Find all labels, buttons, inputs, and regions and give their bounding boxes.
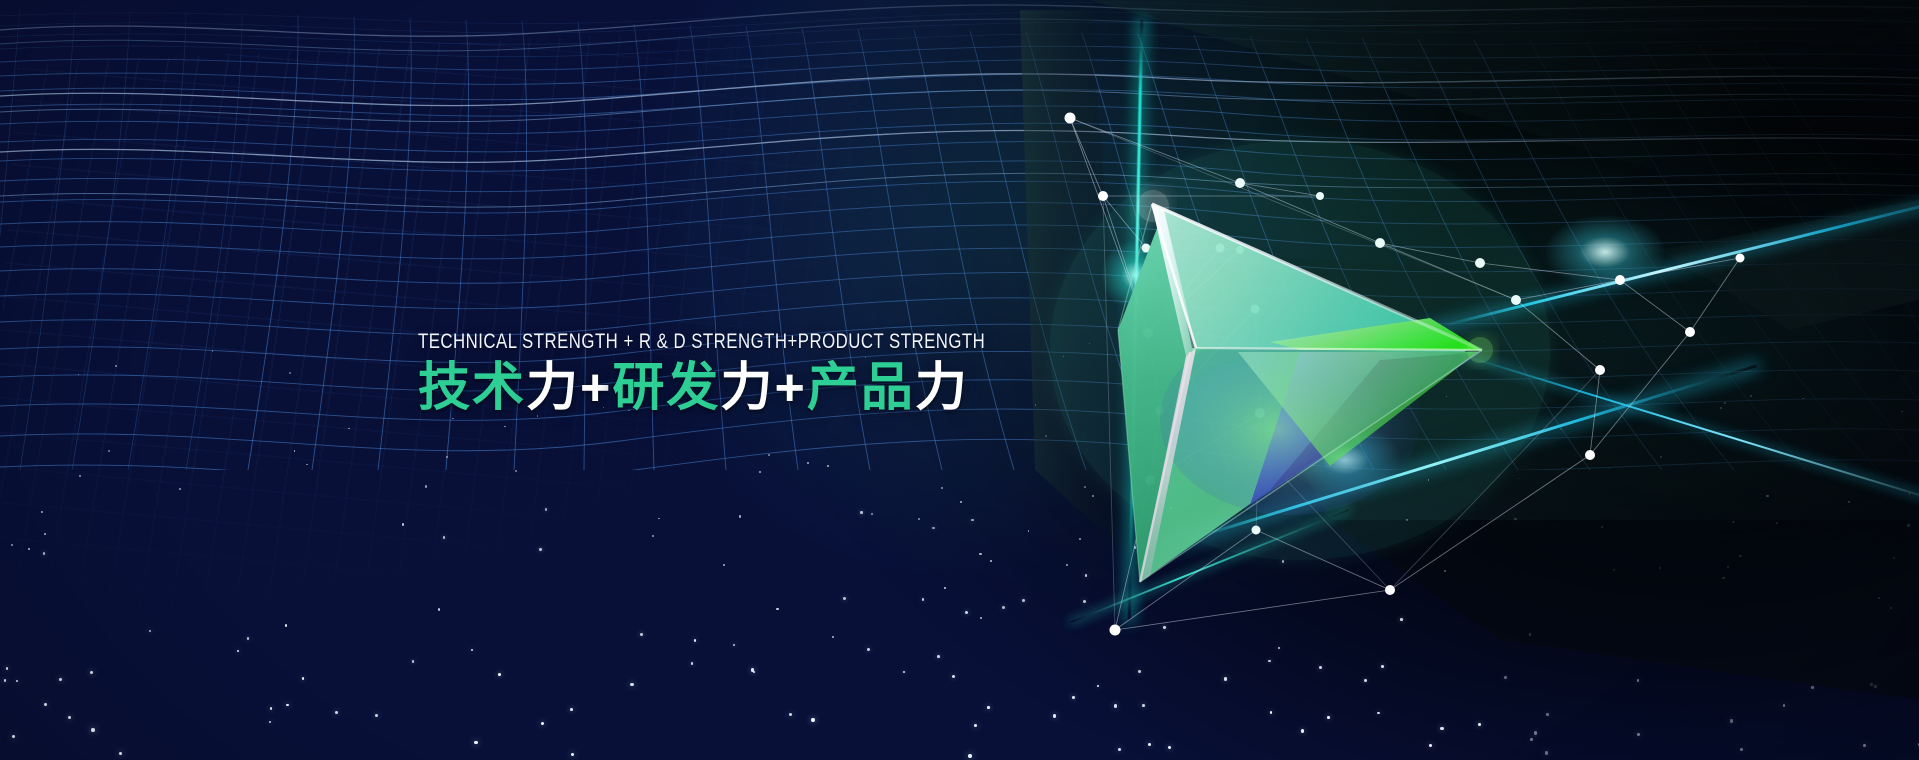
- particle-dot: [237, 650, 240, 653]
- particle-dot: [968, 754, 972, 758]
- particle-dot: [974, 724, 977, 727]
- particle-dot: [1079, 538, 1081, 540]
- particle-dot: [1327, 716, 1330, 719]
- particle-dot: [1660, 456, 1662, 458]
- particle-dot: [1601, 526, 1603, 528]
- particle-dot: [247, 637, 250, 640]
- particle-dot: [11, 544, 13, 546]
- particle-dot: [952, 675, 955, 678]
- particle-dot: [1529, 633, 1532, 636]
- particle-dot: [1863, 744, 1866, 747]
- particle-dot: [807, 462, 809, 464]
- particle-dot: [474, 741, 477, 744]
- particle-dot: [1848, 501, 1850, 503]
- particle-dot: [867, 648, 870, 651]
- particle-dot: [980, 617, 982, 619]
- particle-dot: [979, 553, 981, 555]
- particle-dot: [1613, 569, 1615, 571]
- title-segment-5: +: [774, 359, 806, 417]
- particle-dot: [1136, 517, 1139, 520]
- diagonal-cyan-beam-lower-right: [1442, 348, 1919, 514]
- hero-banner: TECHNICAL STRENGTH + R & D STRENGTH+PROD…: [0, 0, 1919, 760]
- particle-dot: [302, 677, 305, 680]
- particle-dot: [1319, 666, 1322, 669]
- particle-dot: [78, 374, 79, 375]
- particle-dot: [1732, 521, 1735, 524]
- particle-dot: [446, 456, 448, 458]
- particle-dot: [1053, 714, 1056, 717]
- particle-dot: [269, 721, 272, 724]
- particle-dot: [630, 683, 633, 686]
- particle-dot: [1134, 546, 1137, 549]
- particle-dot: [412, 660, 414, 662]
- title-segment-1: 力: [526, 359, 580, 417]
- particle-dot: [1440, 727, 1444, 731]
- particle-dot: [658, 518, 660, 520]
- particle-dot: [1224, 677, 1227, 680]
- vertical-beam-flare: [1100, 240, 1170, 310]
- particle-dot: [1138, 670, 1141, 673]
- particle-dot: [944, 587, 946, 589]
- particle-dot: [12, 735, 15, 738]
- particle-dot: [59, 678, 62, 681]
- particle-dot: [1546, 713, 1549, 716]
- particle-dot: [1514, 518, 1516, 520]
- eyebrow-text: TECHNICAL STRENGTH + R & D STRENGTH+PROD…: [418, 330, 985, 353]
- title-segment-4: 力: [720, 359, 774, 417]
- particle-dot: [68, 716, 71, 719]
- particle-dot: [1163, 626, 1165, 628]
- particle-dot: [918, 518, 920, 520]
- particle-dot: [843, 597, 846, 600]
- particle-dot: [1028, 530, 1030, 532]
- particle-dot: [860, 511, 863, 514]
- particle-dot: [941, 487, 943, 489]
- particle-dot: [776, 608, 778, 610]
- particle-dot: [1377, 712, 1380, 715]
- particle-dot: [1739, 555, 1741, 557]
- particle-dot: [79, 475, 81, 477]
- particle-dot: [1142, 704, 1145, 707]
- particle-dot: [1720, 407, 1722, 409]
- particle-dot: [1478, 723, 1481, 726]
- particle-dot: [1364, 679, 1367, 682]
- particle-dot: [1406, 519, 1408, 521]
- particle-dot: [739, 515, 741, 517]
- particle-dot: [811, 718, 814, 721]
- particle-dot: [965, 611, 968, 614]
- particle-dot: [1637, 679, 1640, 682]
- particle-dot: [1282, 560, 1285, 563]
- particle-dot: [1084, 486, 1086, 488]
- particle-dot: [1083, 600, 1086, 603]
- particle-dot: [1211, 453, 1212, 454]
- particle-dot: [1446, 396, 1448, 398]
- particle-dot: [335, 711, 338, 714]
- particle-dot: [1740, 748, 1744, 752]
- particle-dot: [1045, 435, 1047, 437]
- particle-dot: [723, 564, 725, 566]
- particle-dot: [1659, 567, 1661, 569]
- particle-dot: [871, 513, 873, 515]
- particle-dot: [41, 511, 43, 513]
- particle-dot: [1534, 731, 1538, 735]
- particle-dot: [270, 707, 273, 710]
- particle-dot: [570, 708, 573, 711]
- particle-dot: [28, 548, 30, 550]
- particle-dot: [832, 636, 834, 638]
- particle-dot: [108, 450, 110, 452]
- particle-dot: [932, 527, 935, 530]
- particle-dot: [545, 508, 548, 511]
- particle-dot: [471, 649, 474, 652]
- particle-dot: [91, 728, 95, 732]
- page-title: 技术力+研发力+产品力: [418, 359, 1127, 417]
- particle-dot: [1637, 733, 1640, 736]
- particle-dot: [115, 365, 116, 366]
- particle-dot: [1097, 685, 1100, 688]
- particle-dot: [1893, 557, 1895, 559]
- particle-dot: [1085, 574, 1088, 577]
- particle-dot: [1381, 665, 1384, 668]
- particle-dot: [571, 753, 574, 756]
- particle-dot: [789, 713, 792, 716]
- particle-dot: [539, 548, 541, 550]
- particle-dot: [1890, 607, 1893, 610]
- particle-dot: [1560, 428, 1562, 430]
- title-segment-6: 产品: [807, 359, 915, 417]
- diagonal-cyan-beam-upper-right: [1419, 180, 1919, 333]
- particle-dot: [43, 552, 46, 555]
- particle-dot: [1118, 748, 1121, 751]
- particle-dot: [348, 428, 349, 429]
- particle-dot: [1358, 412, 1360, 414]
- particle-dot: [4, 679, 7, 682]
- particle-dot: [759, 471, 761, 473]
- particle-dot: [1545, 751, 1548, 754]
- particle-dot: [285, 624, 287, 626]
- particle-dot: [1429, 744, 1432, 747]
- particle-dot: [1609, 468, 1611, 470]
- particle-dot: [1148, 743, 1151, 746]
- particle-dot: [90, 671, 93, 674]
- particle-dot: [1168, 746, 1171, 749]
- particle-dot: [1766, 495, 1768, 497]
- particle-dot: [1776, 522, 1778, 524]
- particle-dot: [16, 680, 19, 683]
- particle-dot: [438, 608, 440, 610]
- title-segment-3: 研发: [612, 359, 720, 417]
- diagonal-beam-flare-left: [1290, 425, 1400, 495]
- particle-dot: [652, 535, 654, 537]
- particle-dot: [6, 667, 9, 670]
- particle-dot: [1530, 738, 1533, 741]
- vertical-teal-beam: [1128, 20, 1144, 620]
- particle-dot: [1296, 417, 1298, 419]
- particle-dot: [768, 454, 770, 456]
- particle-dot: [1878, 597, 1880, 599]
- diagonal-cyan-beam-lower-left: [1163, 364, 1757, 548]
- particle-dot: [1750, 395, 1751, 396]
- particle-dot: [691, 662, 694, 665]
- particle-dot: [1066, 564, 1068, 566]
- particle-dot: [541, 722, 544, 725]
- particle-dot: [1114, 704, 1117, 707]
- particle-dot: [504, 426, 506, 428]
- headline-block: TECHNICAL STRENGTH + R & D STRENGTH+PROD…: [418, 330, 1127, 417]
- particle-dot: [1444, 570, 1446, 572]
- particle-dot: [960, 501, 962, 503]
- diagonal-teal-beam-bottom: [1071, 509, 1350, 623]
- particle-dot: [1518, 478, 1520, 480]
- particle-dot: [1730, 719, 1733, 722]
- particle-dot: [1072, 696, 1075, 699]
- particle-dot: [1870, 683, 1873, 686]
- particle-dot: [402, 523, 404, 525]
- particle-dot: [1722, 577, 1724, 579]
- particle-dot: [212, 350, 214, 352]
- particle-dot: [1907, 524, 1909, 526]
- particle-dot: [1811, 686, 1814, 689]
- particle-dot: [306, 464, 307, 465]
- particle-dot: [971, 519, 974, 522]
- particle-dot: [294, 450, 296, 452]
- particle-dot: [452, 418, 454, 420]
- particle-dot: [987, 706, 990, 709]
- particle-dot: [1278, 647, 1281, 650]
- particle-dot: [1092, 495, 1094, 497]
- particle-dot: [44, 533, 46, 535]
- particle-dot: [119, 752, 122, 755]
- particle-dot: [1802, 398, 1804, 400]
- title-segment-0: 技术: [418, 359, 526, 417]
- particle-dot: [425, 485, 427, 487]
- particle-dot: [498, 673, 501, 676]
- particle-dot: [443, 536, 445, 538]
- particle-dot: [1783, 704, 1786, 707]
- particle-dot: [990, 560, 992, 562]
- particle-dot: [1428, 479, 1430, 481]
- particle-dot: [827, 465, 829, 467]
- particle-dot: [1170, 507, 1172, 509]
- particle-dot: [149, 630, 151, 632]
- particle-dot: [1523, 432, 1524, 433]
- particle-dot: [1268, 660, 1270, 662]
- particle-dot: [1724, 402, 1726, 404]
- particle-dot: [1022, 599, 1025, 602]
- particle-dot: [289, 372, 291, 374]
- particle-dot: [1002, 606, 1005, 609]
- particle-dot: [1301, 729, 1304, 732]
- particle-dot: [375, 714, 378, 717]
- particle-dot: [1157, 383, 1158, 384]
- particle-dot: [44, 703, 47, 706]
- particle-dot: [1874, 685, 1877, 688]
- diagonal-beam-flare-right: [1545, 215, 1665, 289]
- particle-dot: [753, 671, 756, 674]
- particle-dot: [937, 655, 940, 658]
- particle-dot: [1400, 618, 1403, 621]
- title-segment-2: +: [580, 359, 612, 417]
- particle-dot: [1727, 566, 1729, 568]
- title-segment-7: 力: [915, 359, 969, 417]
- particle-dot: [179, 488, 181, 490]
- particle-dot: [1504, 676, 1507, 679]
- particle-dot: [903, 671, 906, 674]
- particle-dot: [733, 644, 735, 646]
- particle-dot: [694, 639, 697, 642]
- particle-dot: [1270, 711, 1273, 714]
- particle-dot: [515, 470, 517, 472]
- particle-dot: [922, 598, 925, 601]
- particle-dot: [286, 704, 289, 707]
- particle-dot: [1604, 341, 1605, 342]
- particle-dot: [640, 633, 643, 636]
- particle-dot: [1901, 411, 1903, 413]
- particle-dot: [751, 668, 754, 671]
